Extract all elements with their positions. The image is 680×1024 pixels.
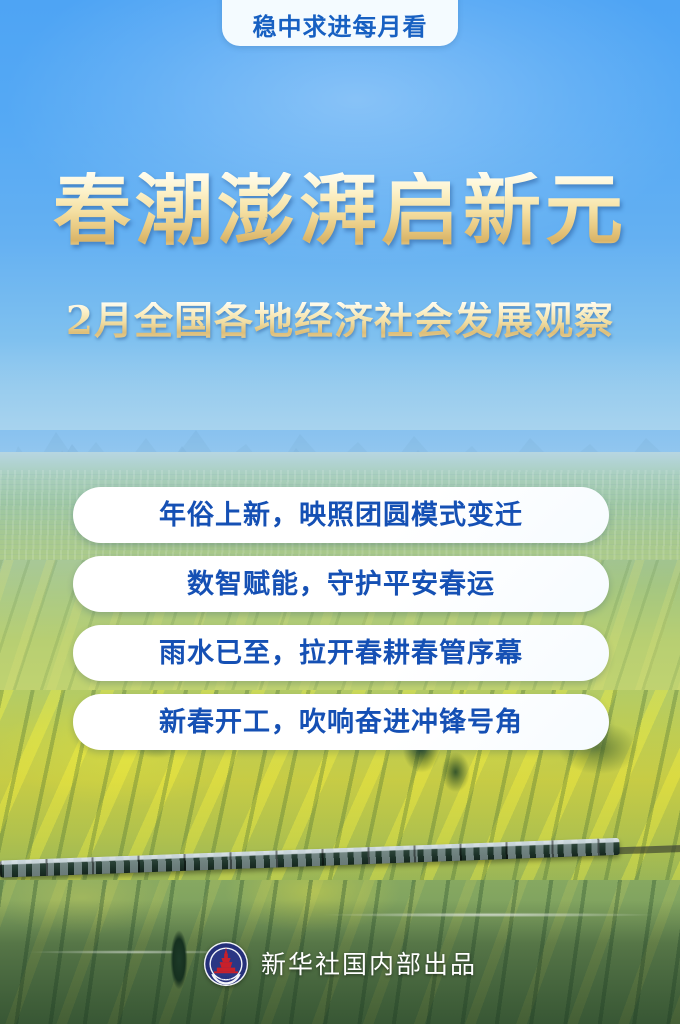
- topic-pill-2[interactable]: 数智赋能，守护平安春运: [73, 556, 609, 612]
- page-subtitle: 2月全国各地经济社会发展观察: [0, 302, 680, 341]
- poster-canvas: 稳中求进每月看 春潮澎湃启新元 2月全国各地经济社会发展观察 年俗上新，映照团圆…: [0, 0, 680, 1024]
- page-title: 春潮澎湃启新元: [0, 172, 680, 250]
- series-badge[interactable]: 稳中求进每月看: [222, 0, 458, 46]
- series-badge-label: 稳中求进每月看: [253, 15, 428, 39]
- footer-credit: 新华社 新华社国内部出品: [0, 938, 680, 990]
- page-title-text: 春潮澎湃启新元: [53, 172, 627, 250]
- topic-pill-3[interactable]: 雨水已至，拉开春耕春管序幕: [73, 625, 609, 681]
- footer-credit-label: 新华社国内部出品: [261, 952, 477, 977]
- topic-pill-1[interactable]: 年俗上新，映照团圆模式变迁: [73, 487, 609, 543]
- topic-pill-4[interactable]: 新春开工，吹响奋进冲锋号角: [73, 694, 609, 750]
- svg-text:新华社: 新华社: [220, 975, 231, 980]
- topic-pill-1-label: 年俗上新，映照团圆模式变迁: [159, 502, 523, 529]
- topic-pill-2-label: 数智赋能，守护平安春运: [187, 571, 495, 598]
- xinhua-agency-logo-icon: 新华社: [203, 941, 249, 987]
- page-subtitle-text: 2月全国各地经济社会发展观察: [66, 302, 614, 341]
- topic-pill-3-label: 雨水已至，拉开春耕春管序幕: [159, 640, 523, 667]
- topic-pill-4-label: 新春开工，吹响奋进冲锋号角: [159, 709, 523, 736]
